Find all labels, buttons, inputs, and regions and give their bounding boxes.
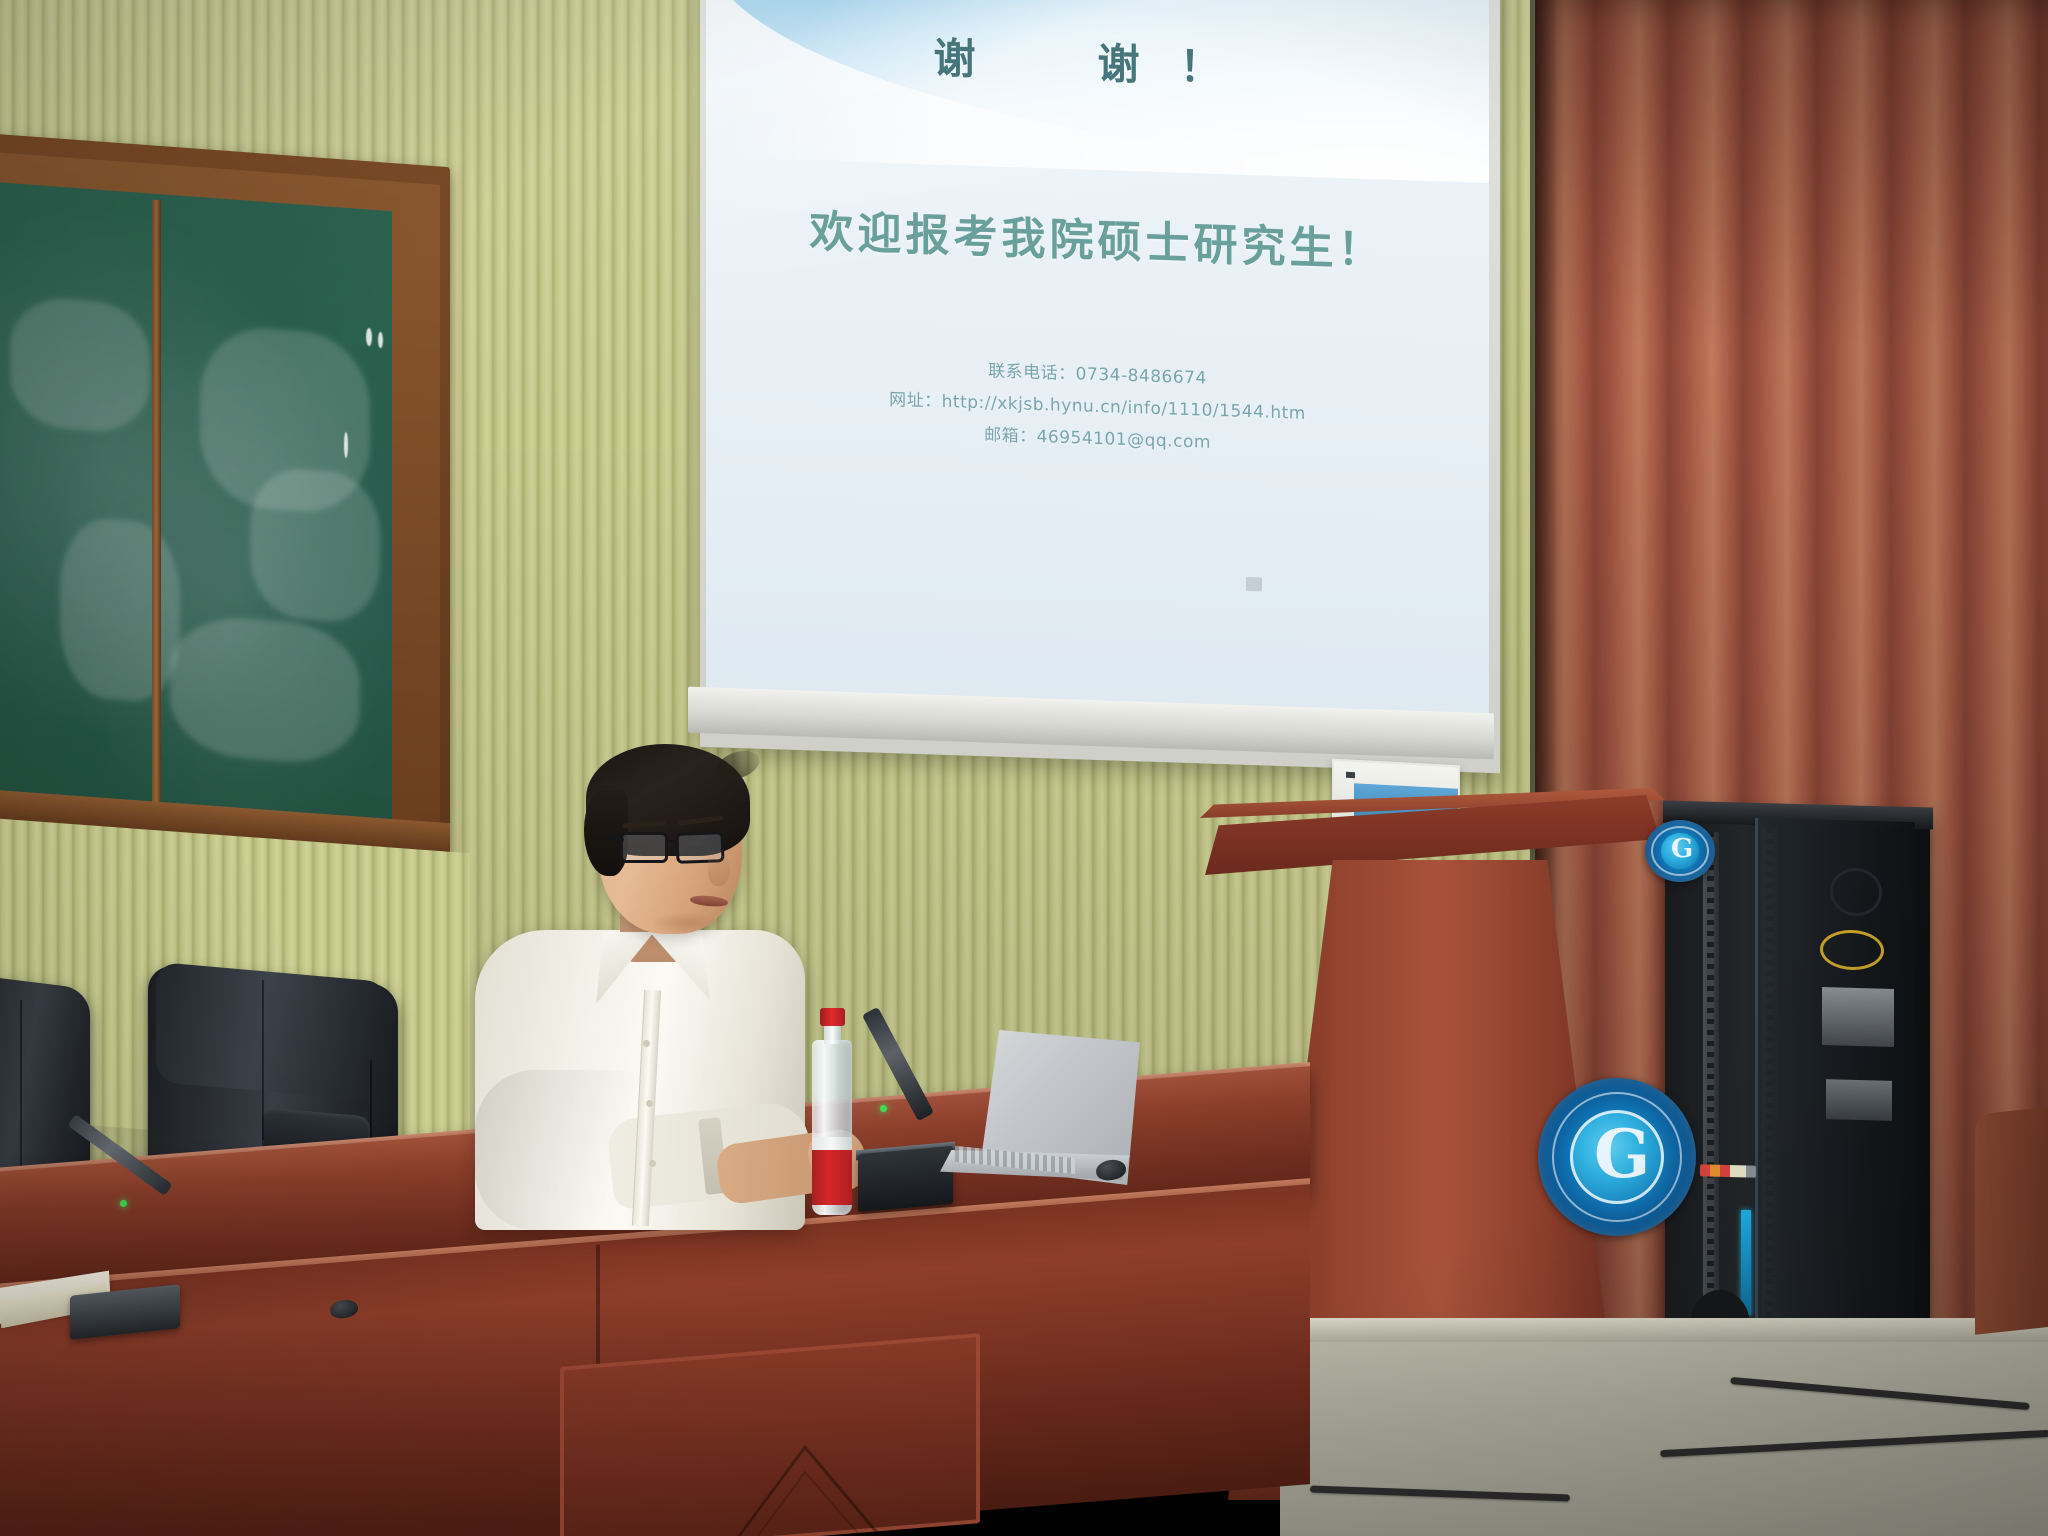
lecture-hall-photo: 谢 谢！ 欢迎报考我院硕士研究生！ 联系电话：0734-8486674 网址：h… [0, 0, 2048, 1536]
podium-top-emblem-letter: G [1671, 836, 1693, 862]
shirt-button [643, 1040, 650, 1047]
speaker-nose [708, 852, 730, 886]
chalk-smudge [60, 516, 180, 705]
floor [1280, 1320, 2048, 1536]
chair-seam [262, 980, 264, 1140]
microphone-led-left [120, 1200, 127, 1207]
chalk-mark [378, 332, 383, 348]
water-bottle-cap[interactable] [820, 1008, 845, 1026]
floor-skirting [1280, 1318, 2048, 1342]
shirt-button [646, 1100, 653, 1107]
microphone-led-center [880, 1105, 887, 1112]
desk-unit[interactable] [858, 1146, 953, 1212]
rack-blue-indicator [1741, 1210, 1751, 1315]
glasses-lens-left [620, 832, 668, 863]
podium-emblem-chinese-name: 湖南财政经济学院 [1538, 1092, 2048, 1108]
speaker-chin-shadow [650, 912, 722, 934]
rack-status-leds [1700, 1164, 1756, 1177]
desk-panel-detail [600, 1381, 940, 1536]
slide-welcome-text: 欢迎报考我院硕士研究生！ [706, 192, 1489, 282]
glasses-bridge [668, 840, 678, 843]
chalkboard-divider [152, 200, 161, 821]
desk-panel-inlay-icon [600, 1381, 940, 1536]
side-chair-edge[interactable] [1975, 1105, 2048, 1334]
chalk-smudge [10, 295, 150, 435]
shirt-button [649, 1160, 656, 1167]
chalk-mark [366, 328, 372, 346]
water-bottle-label [812, 1150, 852, 1205]
podium-emblem-letter: G [1594, 1121, 1650, 1187]
chalk-smudge [250, 465, 380, 625]
wall-control-panel-led [1346, 772, 1355, 778]
podium-emblem-english-name: Hunan University of Finance and Economic… [1538, 1206, 2048, 1215]
projection-screen: 谢 谢！ 欢迎报考我院硕士研究生！ 联系电话：0734-8486674 网址：h… [706, 0, 1489, 730]
rack-cable-loop [1830, 867, 1882, 916]
chair-headrest [156, 962, 388, 1102]
chalk-mark [344, 432, 348, 458]
screen-blemish [1246, 577, 1262, 592]
rack-shelf [1822, 987, 1894, 1047]
